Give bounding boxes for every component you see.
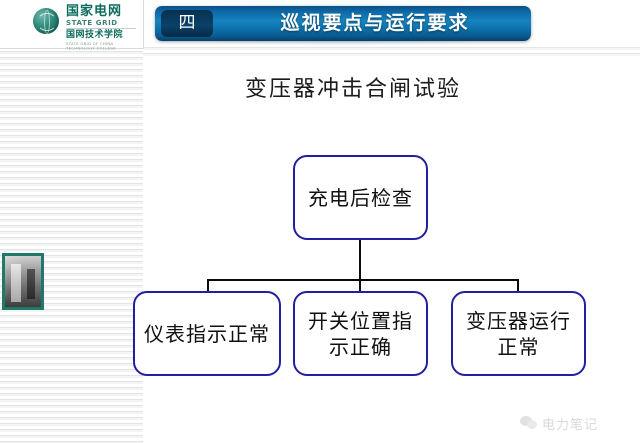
connector-root-vertical (359, 240, 361, 280)
watermark-text: 电力笔记 (542, 414, 598, 433)
flow-node-child-1: 仪表指示正常 (133, 291, 281, 376)
flow-node-child-3: 变压器运行正常 (451, 291, 586, 376)
slide-canvas: 国家电网 STATE GRID 国网技术学院 STATE GRID OF CHI… (0, 0, 640, 443)
flowchart: 充电后检查 仪表指示正常 开关位置指示正确 变压器运行正常 (0, 0, 640, 443)
wechat-icon (520, 416, 537, 431)
flow-node-child-2: 开关位置指示正确 (293, 291, 428, 376)
watermark: 电力笔记 (520, 412, 632, 434)
flow-node-child-3-label: 变压器运行正常 (453, 308, 584, 360)
flow-node-child-1-label: 仪表指示正常 (138, 321, 276, 347)
flow-node-child-2-label: 开关位置指示正确 (295, 308, 426, 360)
flow-node-root-label: 充电后检查 (302, 185, 419, 211)
flow-node-root: 充电后检查 (293, 155, 428, 240)
connector-horizontal-bus (207, 279, 519, 281)
